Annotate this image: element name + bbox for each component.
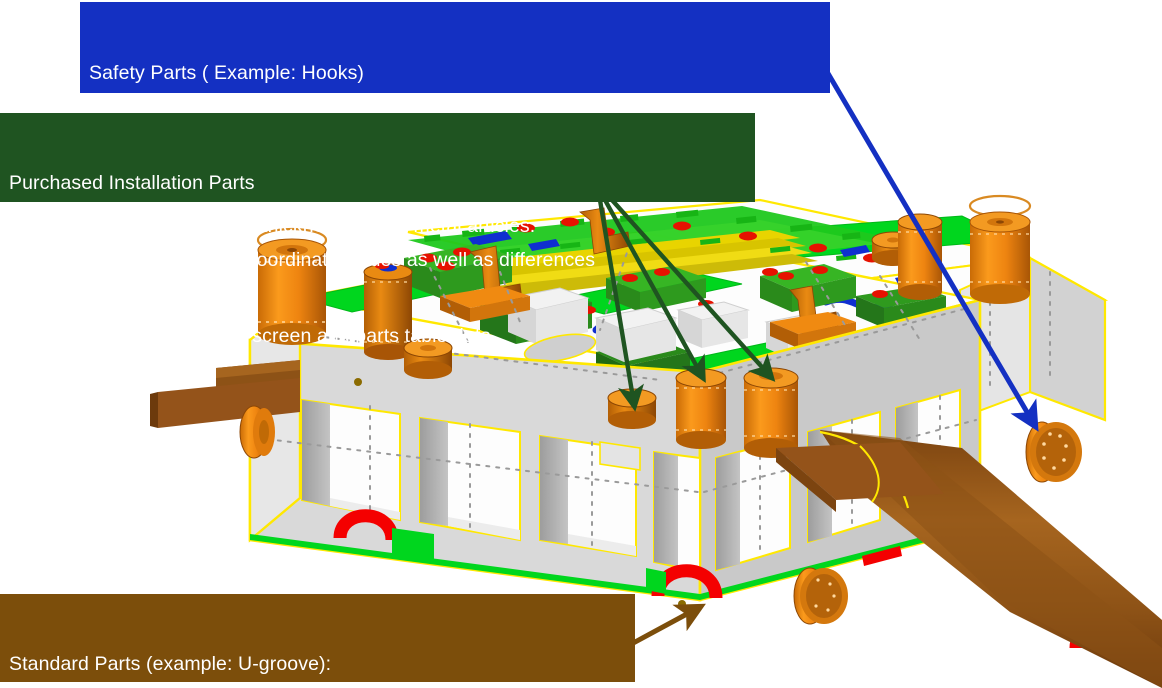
callout-safety-line-1: Safety Parts ( Example: Hooks) — [89, 61, 830, 87]
arrow-standard-to-u-groove — [624, 608, 698, 648]
callout-purchased-installation-parts[interactable]: Purchased Installation Parts 3D Model-Ch… — [0, 113, 755, 202]
callout-purchased-line-2: 3D Model-Checker verifies coordinate val… — [9, 248, 755, 274]
callout-purchased-line-3: between shape data on the screen and par… — [9, 324, 755, 350]
callout-safety-parts[interactable]: Safety Parts ( Example: Hooks) 3D Model-… — [80, 2, 830, 93]
arrow-safety-to-hook — [826, 70, 1034, 424]
figure-canvas: Safety Parts ( Example: Hooks) 3D Model-… — [0, 0, 1162, 688]
callout-standard-line-1: Standard Parts (example: U-groove): — [9, 652, 635, 678]
callout-purchased-line-1: Purchased Installation Parts — [9, 171, 755, 197]
callout-standard-parts[interactable]: Standard Parts (example: U-groove): 3D M… — [0, 594, 635, 682]
